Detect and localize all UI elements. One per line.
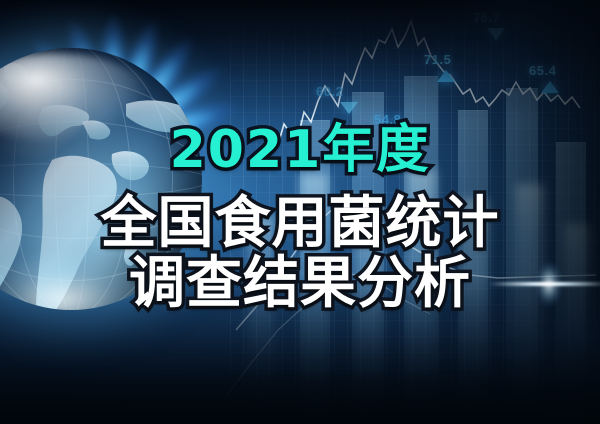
title-line-analysis: 调查结果分析 bbox=[0, 256, 600, 312]
poster-canvas: 60.2 54.8 71.5 76.7 65.4 bbox=[0, 0, 600, 424]
title-line-year: 2021年度 bbox=[0, 124, 600, 176]
title-line-subject: 全国食用菌统计 bbox=[0, 196, 600, 252]
